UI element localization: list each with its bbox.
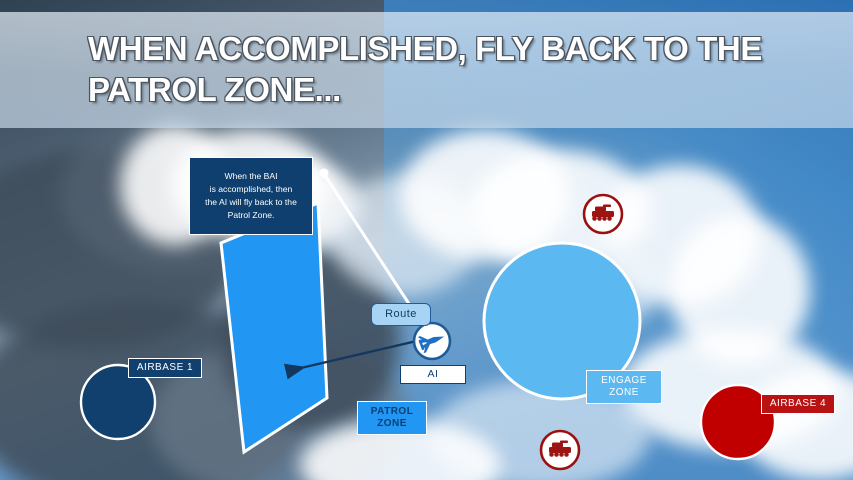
callout-leader-endpoint (320, 169, 329, 178)
label-engage-zone[interactable]: ENGAGE ZONE (586, 370, 662, 404)
label-aircraft-ai[interactable]: AI (400, 365, 466, 384)
ground-target-north[interactable] (584, 195, 622, 233)
patrol-zone-polygon[interactable] (221, 203, 327, 452)
aircraft-marker[interactable] (414, 323, 450, 359)
label-patrol-zone[interactable]: PATROL ZONE (357, 401, 427, 435)
ground-target-south[interactable] (541, 431, 579, 469)
presentation-slide: WHEN ACCOMPLISHED, FLY BACK TO THE PATRO… (0, 0, 853, 480)
label-airbase-1[interactable]: AIRBASE 1 (128, 358, 202, 378)
label-airbase-4[interactable]: AIRBASE 4 (761, 394, 835, 414)
label-route[interactable]: Route (371, 303, 431, 326)
callout-leader-line (324, 174, 417, 316)
callout-box: When the BAI is accomplished, then the A… (189, 157, 313, 235)
